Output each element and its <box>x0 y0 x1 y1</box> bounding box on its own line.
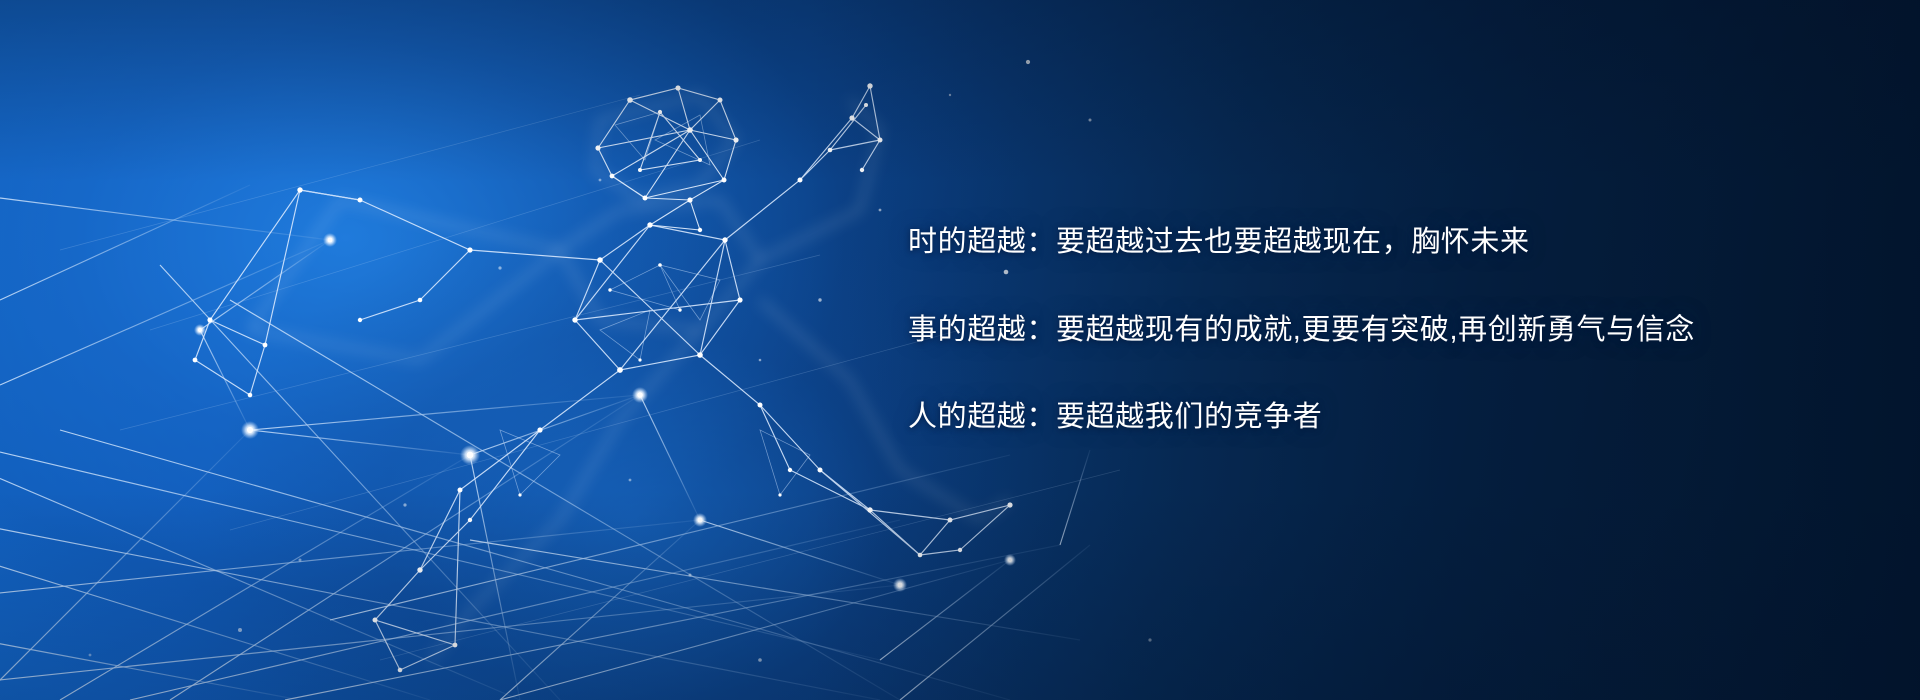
hero-banner: 时的超越：要超越过去也要超越现在，胸怀未来 事的超越：要超越现有的成就,更要有突… <box>0 0 1920 700</box>
slogan-line-matter: 事的超越：要超越现有的成就,更要有突破,再创新勇气与信念 <box>908 312 1768 349</box>
slogan-line-time: 时的超越：要超越过去也要超越现在，胸怀未来 <box>908 224 1768 261</box>
slogan-block: 时的超越：要超越过去也要超越现在，胸怀未来 事的超越：要超越现有的成就,更要有突… <box>908 224 1768 436</box>
slogan-line-people: 人的超越：要超越我们的竞争者 <box>908 399 1768 436</box>
